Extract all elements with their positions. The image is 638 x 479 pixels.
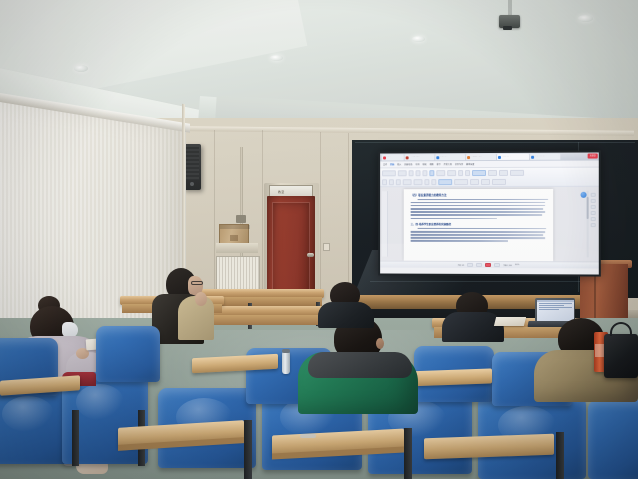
wps-menu-item[interactable]: 开发工具 bbox=[444, 163, 452, 166]
wps-status-bar[interactable]: 页码 1/3 字数 2,184 100% bbox=[380, 261, 599, 269]
wps-tab[interactable]: 工作总结报告.docx bbox=[405, 154, 435, 160]
hand-on-chin bbox=[195, 292, 207, 306]
sidebar-icon[interactable] bbox=[591, 217, 596, 221]
text-color-button[interactable] bbox=[429, 170, 434, 176]
light-switch[interactable] bbox=[323, 243, 330, 251]
sidebar-icon[interactable] bbox=[591, 199, 596, 203]
attendee-mid-left bbox=[150, 268, 222, 343]
more-styles-button[interactable] bbox=[492, 179, 506, 185]
wps-menu-item[interactable]: 稿纸设置 bbox=[466, 163, 474, 166]
document-right-toolbar[interactable] bbox=[590, 191, 597, 258]
wps-tab-label: 工作总结报告.docx bbox=[410, 156, 425, 158]
chair-post bbox=[404, 428, 412, 479]
wps-tab-active[interactable]: 课题申报书.docx bbox=[497, 154, 529, 160]
chair-post bbox=[556, 432, 564, 479]
wps-menu-item[interactable]: 文件 bbox=[383, 163, 387, 166]
wps-menu-item[interactable]: 引用 bbox=[415, 163, 419, 166]
align-group[interactable] bbox=[447, 170, 456, 176]
style-normal-button[interactable] bbox=[438, 179, 452, 185]
style-heading1-button[interactable] bbox=[454, 179, 468, 185]
line-spacing-button[interactable] bbox=[414, 179, 423, 185]
downlight-icon bbox=[74, 65, 88, 72]
attendee-center bbox=[302, 316, 422, 412]
downlight-icon bbox=[578, 15, 593, 22]
record-button[interactable] bbox=[485, 263, 491, 267]
paste-button[interactable] bbox=[396, 179, 401, 185]
wps-menu-item[interactable]: 页面布局 bbox=[404, 163, 412, 166]
sidebar-icon[interactable] bbox=[591, 223, 596, 227]
wps-menu-item[interactable]: 开始 bbox=[390, 163, 394, 166]
wps-tab-label: 首页 bbox=[387, 157, 391, 159]
attendee-right-back bbox=[442, 292, 504, 340]
font-size-select[interactable] bbox=[398, 170, 407, 176]
view-mode-button[interactable] bbox=[467, 263, 473, 267]
borders-button[interactable] bbox=[481, 179, 490, 185]
sidebar-icon[interactable] bbox=[591, 193, 596, 197]
wps-document-area[interactable]: （四）职业素养能力的教育方法 三、四·培养学生职业素养的实施路径 bbox=[380, 187, 599, 262]
wps-menu-item[interactable]: 会员专享 bbox=[455, 163, 463, 166]
format-painter-button[interactable] bbox=[403, 179, 412, 185]
chair-post bbox=[244, 420, 252, 479]
chair-back[interactable] bbox=[588, 400, 638, 479]
chair-highlight bbox=[76, 384, 124, 420]
wps-tab[interactable]: 课程设计方案 bbox=[466, 154, 496, 160]
wall-radiator bbox=[216, 256, 260, 290]
view-mode-button[interactable] bbox=[476, 263, 482, 267]
chair-post bbox=[72, 410, 79, 466]
wall-ledge bbox=[216, 243, 258, 253]
conduit-junction-box bbox=[236, 215, 246, 223]
door-handle[interactable] bbox=[307, 253, 314, 257]
wps-tab-label: 教学文档.docx bbox=[440, 156, 451, 158]
cut-button[interactable] bbox=[382, 179, 387, 185]
water-bottle bbox=[282, 352, 290, 374]
font-family-select[interactable] bbox=[382, 170, 396, 176]
bold-button[interactable] bbox=[409, 170, 414, 176]
wps-menu-item[interactable]: 视图 bbox=[429, 163, 433, 166]
document-page[interactable]: （四）职业素养能力的教育方法 三、四·培养学生职业素养的实施路径 bbox=[404, 189, 554, 261]
downlight-icon bbox=[412, 36, 425, 42]
wps-tab-label: 教学改革研究 bbox=[535, 156, 546, 158]
document-scrollbar[interactable] bbox=[587, 191, 589, 258]
sidebar-icon[interactable] bbox=[591, 211, 596, 215]
wps-office-window[interactable]: 首页 工作总结报告.docx 教学文档.docx 课程设计方案 课题申报书.do… bbox=[380, 152, 599, 274]
document-heading-1: （四）职业素养能力的教育方法 bbox=[411, 193, 547, 197]
indent-increase-button[interactable] bbox=[431, 179, 436, 185]
page-number-label: 页码 1/3 bbox=[458, 263, 465, 266]
numbering-button[interactable] bbox=[465, 170, 470, 176]
door-transom-label: 教室 bbox=[278, 190, 285, 194]
find-button[interactable] bbox=[488, 170, 497, 176]
indent-decrease-button[interactable] bbox=[424, 179, 429, 185]
document-left-gutter bbox=[382, 191, 388, 256]
wps-tab-bar[interactable]: 首页 工作总结报告.docx 教学文档.docx 课程设计方案 课题申报书.do… bbox=[380, 152, 599, 161]
underline-button[interactable] bbox=[422, 170, 427, 176]
styles-gallery[interactable] bbox=[472, 170, 486, 176]
ear bbox=[376, 338, 384, 349]
jacket-shoulder-panel bbox=[308, 352, 412, 378]
wps-menu-item[interactable]: 审阅 bbox=[422, 163, 426, 166]
wps-ribbon-toolbar[interactable] bbox=[380, 168, 599, 188]
chair-back[interactable] bbox=[96, 326, 160, 382]
scrollbar-thumb[interactable] bbox=[587, 197, 589, 219]
shading-button[interactable] bbox=[470, 179, 479, 185]
wps-tab[interactable]: 教学文档.docx bbox=[435, 154, 465, 160]
wps-menu-item[interactable]: 章节 bbox=[437, 163, 441, 166]
paragraph-group[interactable] bbox=[436, 170, 445, 176]
document-heading-2: 三、四·培养学生职业素养的实施路径 bbox=[411, 222, 547, 226]
wall-seam bbox=[262, 130, 263, 310]
open-notebook bbox=[494, 317, 526, 326]
handbag bbox=[604, 334, 638, 378]
view-mode-button[interactable] bbox=[494, 263, 500, 267]
select-button[interactable] bbox=[510, 170, 524, 176]
word-count-label: 字数 2,184 bbox=[503, 264, 512, 267]
wps-tab[interactable]: 首页 bbox=[382, 154, 404, 160]
downlight-icon bbox=[270, 55, 283, 61]
ceiling-projector bbox=[499, 15, 520, 28]
jacket-torso bbox=[318, 302, 374, 328]
zoom-level-label: 100% bbox=[515, 264, 520, 266]
projection-screen[interactable]: 首页 工作总结报告.docx 教学文档.docx 课程设计方案 课题申报书.do… bbox=[378, 150, 601, 276]
chair-highlight bbox=[2, 396, 54, 432]
bullets-button[interactable] bbox=[458, 170, 463, 176]
classroom-photo-scene: 教室 首页 bbox=[0, 0, 638, 479]
jacket-torso bbox=[442, 312, 504, 342]
wps-tab-label: 课程设计方案 bbox=[471, 156, 482, 158]
bottle-cap bbox=[282, 349, 290, 353]
wps-tab[interactable]: 教学改革研究 bbox=[530, 154, 560, 160]
wps-login-button[interactable]: 未登录 bbox=[588, 153, 598, 158]
sidebar-icon[interactable] bbox=[591, 205, 596, 209]
wps-tab-label: 课题申报书.docx bbox=[502, 156, 515, 158]
blackboard-seam bbox=[355, 142, 635, 143]
glasses-icon bbox=[191, 281, 203, 285]
italic-button[interactable] bbox=[416, 170, 421, 176]
replace-button[interactable] bbox=[499, 170, 508, 176]
attendee-mid-center bbox=[318, 282, 374, 324]
copy-button[interactable] bbox=[389, 179, 394, 185]
tablet-arm-items bbox=[300, 434, 316, 438]
wps-menu-item[interactable]: 插入 bbox=[397, 163, 401, 166]
